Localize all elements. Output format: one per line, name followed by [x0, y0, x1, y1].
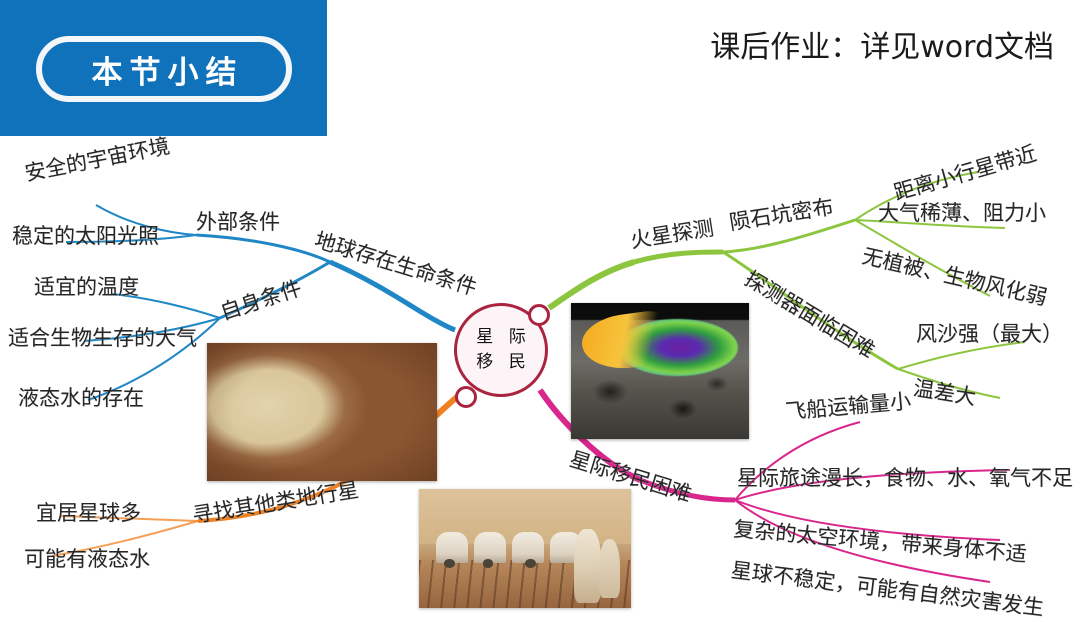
rover-wheel: [483, 559, 494, 567]
leaf-label-suitable-temperature: 适宜的温度: [34, 271, 139, 301]
center-node-label: 星 际 移 民: [454, 303, 548, 397]
habitat-module: [474, 532, 506, 563]
mars-base-photo: [419, 489, 631, 608]
habitat-module: [436, 532, 468, 563]
leaf-label-long-journey: 星际旅途漫长，食物、水、氧气不足: [737, 462, 1073, 492]
leaf-label-stable-sunlight: 稳定的太阳光照: [12, 220, 159, 250]
slide-canvas: 本节小结 课后作业：详见word文档: [0, 0, 1080, 608]
planet-surface-photo: [571, 303, 749, 439]
mars-craters-photo: [207, 343, 437, 481]
leaf-label-thin-atmosphere: 大气稀薄、阻力小: [878, 197, 1046, 227]
rover-wheel: [444, 559, 455, 567]
leaf-label-breathable-atmosphere: 适合生物生存的大气: [8, 322, 197, 352]
astronaut-figure: [599, 539, 620, 599]
astronaut-figure: [574, 529, 602, 603]
node-label-external-conditions: 外部条件: [196, 206, 280, 236]
photo-vignette: [207, 343, 437, 481]
rover-wheel: [525, 559, 536, 567]
leaf-label-many-habitable-planets: 宜居星球多: [36, 497, 141, 527]
habitat-module: [512, 532, 544, 563]
leaf-label-liquid-water: 液态水的存在: [18, 382, 144, 412]
leaf-label-strong-sandstorm: 风沙强（最大）: [916, 318, 1063, 348]
center-label-line2: 移 民: [471, 350, 530, 376]
leaf-label-possible-liquid-water: 可能有液态水: [24, 543, 150, 573]
center-label-line1: 星 际: [471, 325, 530, 351]
